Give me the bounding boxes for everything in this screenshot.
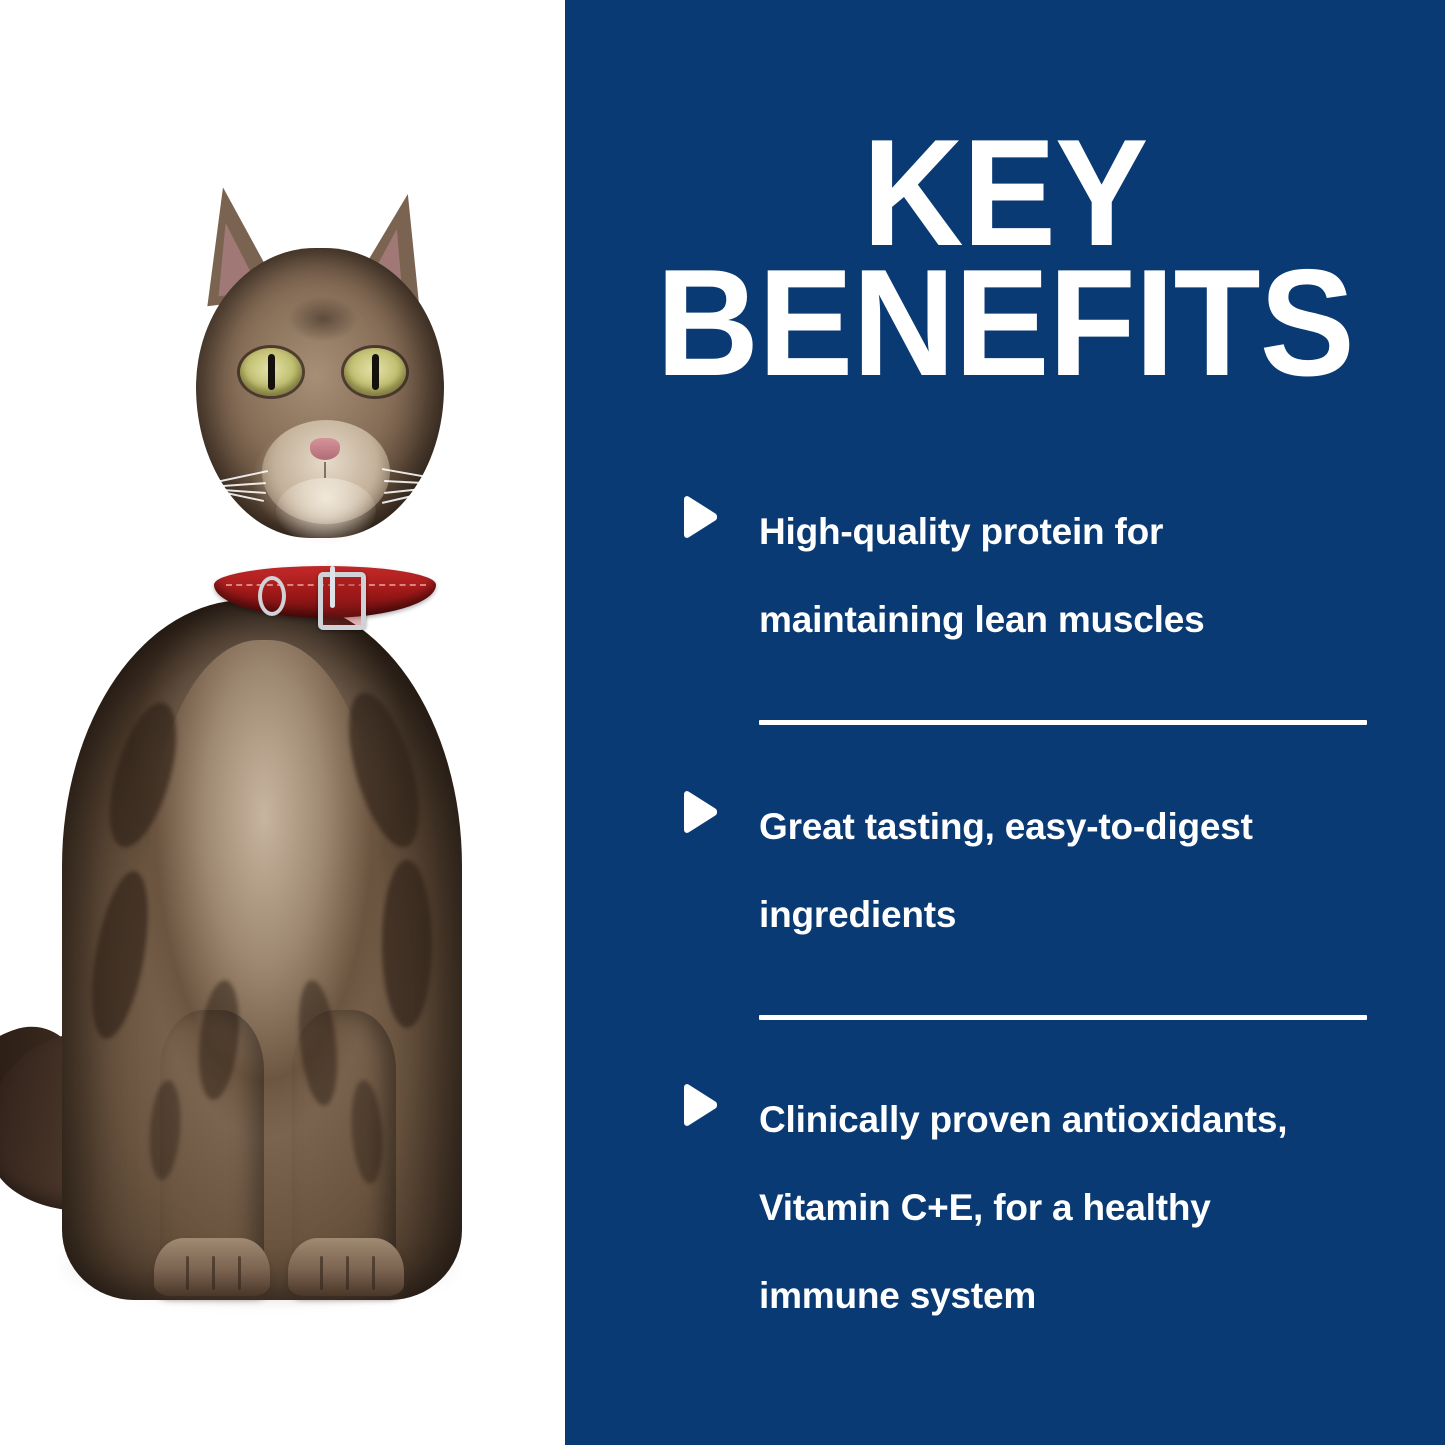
cat-toe — [186, 1256, 189, 1290]
triangle-right-icon — [675, 1082, 721, 1128]
cat-toe — [372, 1256, 375, 1290]
cat-nose — [310, 438, 340, 460]
cat-pupil-right — [372, 354, 379, 390]
page-title-line-2: BENEFITS — [592, 258, 1418, 388]
list-item: High-quality protein for maintaining lea… — [675, 488, 1375, 664]
cat-mouth — [324, 462, 326, 478]
list-item: Great tasting, easy-to-digest ingredient… — [675, 783, 1375, 959]
tabby-stripe — [382, 860, 432, 1028]
benefit-text: Great tasting, easy-to-digest ingredient… — [759, 783, 1253, 959]
cat-photo — [0, 0, 565, 1445]
benefits-panel: KEY BENEFITS High-quality protein for ma… — [565, 0, 1445, 1445]
key-benefits-panel: KEY BENEFITS High-quality protein for ma… — [0, 0, 1445, 1445]
cat-toe — [238, 1256, 241, 1290]
benefits-list: High-quality protein for maintaining lea… — [675, 488, 1375, 1340]
cat-toe — [212, 1256, 215, 1290]
benefit-text: Clinically proven antioxidants, Vitamin … — [759, 1076, 1287, 1340]
page-title: KEY BENEFITS — [600, 128, 1410, 388]
triangle-right-icon — [675, 789, 721, 835]
cat-collar-d-ring — [258, 576, 286, 616]
cat-pupil-left — [268, 354, 275, 390]
benefit-text: High-quality protein for maintaining lea… — [759, 488, 1205, 664]
cat-toe — [320, 1256, 323, 1290]
cat-forehead-marking — [288, 296, 358, 342]
cat-collar-buckle — [318, 572, 366, 630]
cat-toe — [346, 1256, 349, 1290]
cat-photo-panel — [0, 0, 565, 1445]
cat-collar-buckle-pin — [330, 566, 335, 608]
triangle-right-icon — [675, 494, 721, 540]
list-item: Clinically proven antioxidants, Vitamin … — [675, 1076, 1375, 1340]
cat-chin — [276, 478, 376, 544]
